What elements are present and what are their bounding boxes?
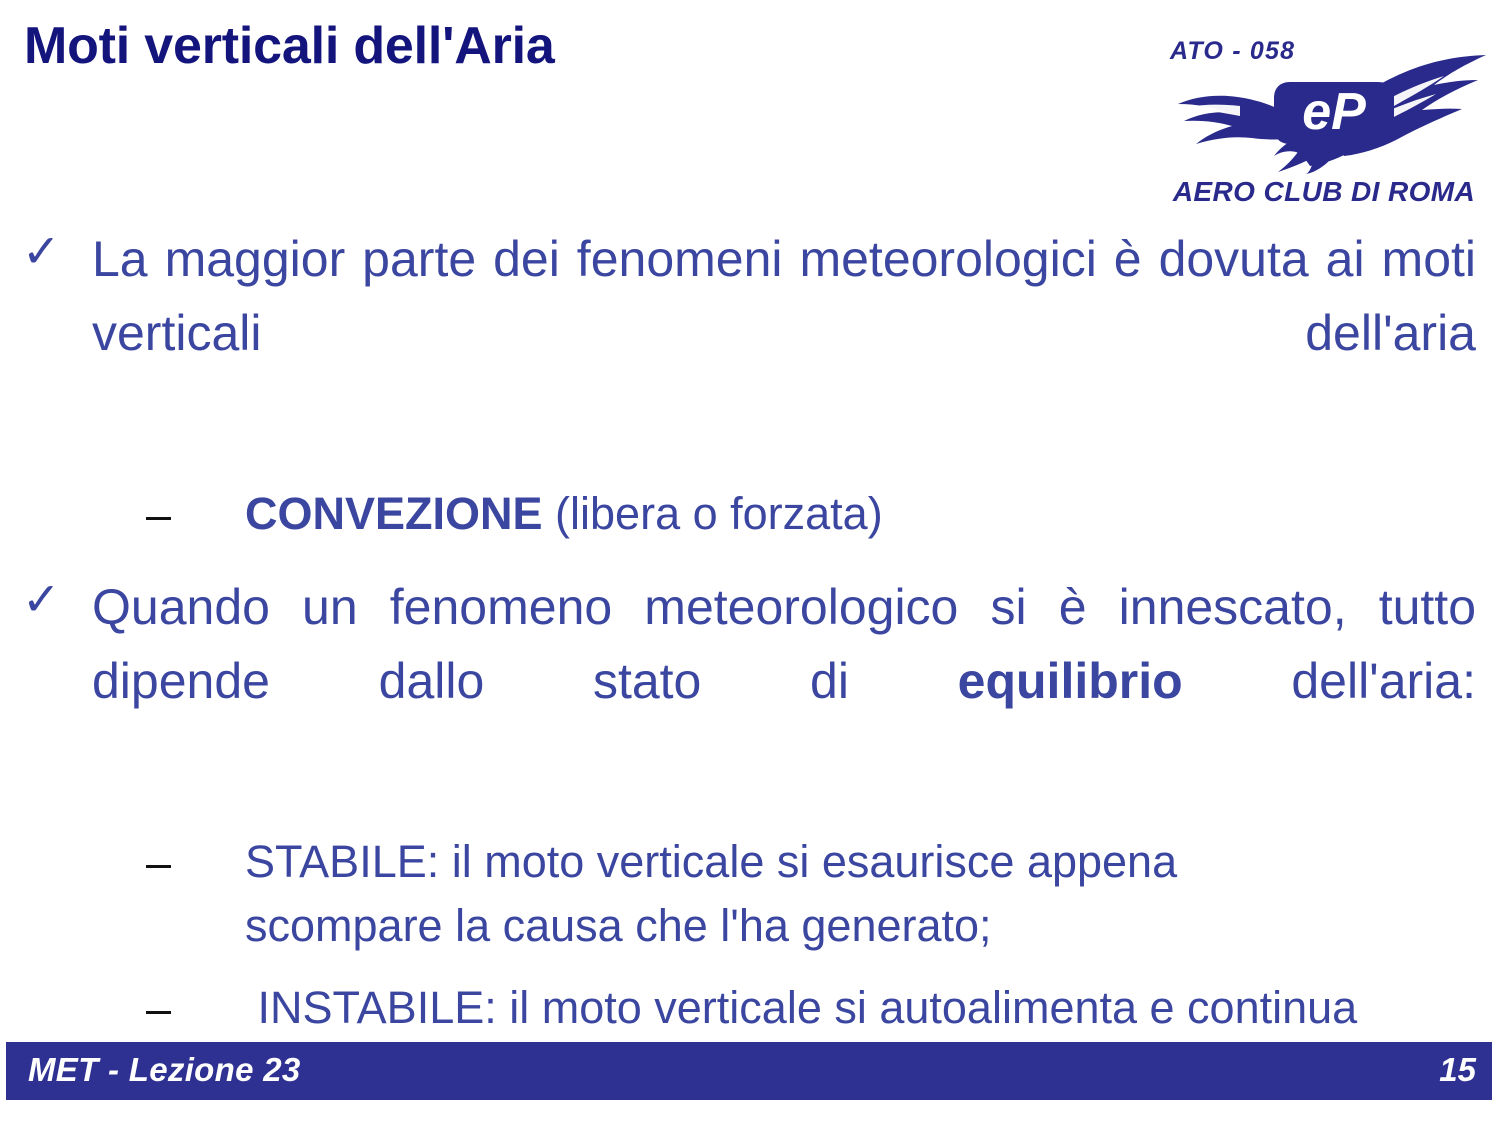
bullet-text: (libera o forzata) [543, 488, 883, 539]
bullet-text-strong: CONVEZIONE [245, 488, 543, 539]
page-title: Moti verticali dell'Aria [24, 18, 1114, 74]
check-icon: ✓ [22, 572, 61, 627]
footer-lesson-label: MET - Lezione 23 [28, 1051, 301, 1089]
dash-icon: – [146, 831, 171, 895]
bullet-level1-item: ✓ Quando un fenomeno meteorologico si è … [0, 570, 1500, 792]
bullet-text: STABILE: il moto verticale si esaurisce … [245, 836, 1177, 951]
footer-band: MET - Lezione 23 15 [6, 1042, 1492, 1100]
spacer [0, 562, 1500, 570]
spacer [0, 454, 1500, 464]
eagle-icon: eP [1148, 54, 1490, 174]
bullet-level1-item: ✓ La maggior parte dei fenomeni meteorol… [0, 222, 1500, 444]
dash-icon: – [146, 977, 171, 1041]
spacer [0, 802, 1500, 812]
slide-body: ✓ La maggior parte dei fenomeni meteorol… [0, 222, 1500, 1119]
logo-org-name: AERO CLUB DI ROMA [1158, 176, 1490, 208]
dash-icon: – [146, 483, 171, 547]
svg-text:eP: eP [1302, 83, 1366, 141]
slide-root: Moti verticali dell'Aria ATO - 058 [0, 0, 1500, 1125]
footer-page-number: 15 [1439, 1051, 1476, 1089]
bullet-level2-item: – STABILE: il moto verticale si esaurisc… [0, 830, 1500, 958]
bullet-level2-item: – CONVEZIONE (libera o forzata) [0, 482, 1500, 546]
bullet-text: La maggior parte dei fenomeni meteorolog… [92, 231, 1476, 435]
bullet-text-strong: equilibrio [958, 653, 1183, 709]
check-icon: ✓ [22, 224, 61, 279]
aero-club-logo: ATO - 058 eP [1148, 16, 1490, 214]
bullet-text: dell'aria: [1183, 653, 1476, 709]
